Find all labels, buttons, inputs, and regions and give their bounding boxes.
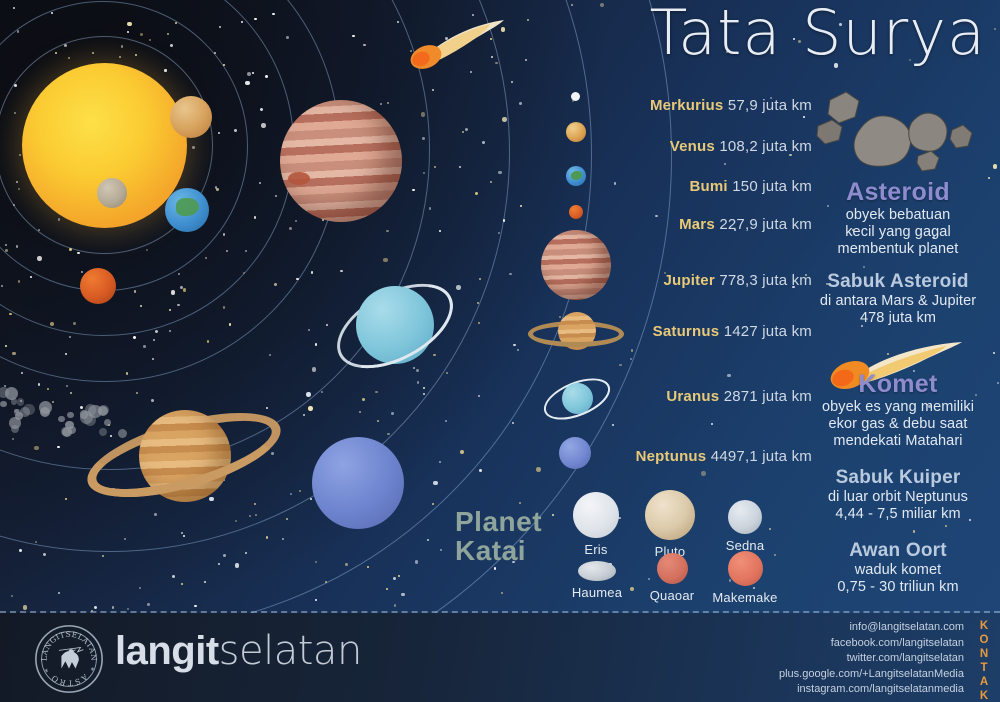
brand-bold: langit: [115, 629, 219, 673]
planet-row-uranus: Uranus 2871 juta km: [666, 389, 812, 405]
asteroid-belt-heading: Sabuk Asteroid: [800, 271, 996, 293]
planet-distance: 4497,1 juta km: [711, 448, 812, 465]
planet-row-saturnus: Saturnus 1427 juta km: [653, 324, 812, 340]
planet-name: Bumi: [689, 178, 727, 195]
planet-name: Venus: [670, 138, 715, 155]
orbit-planet-venus: [170, 96, 212, 138]
dwarf-planet-makemake: Makemake: [709, 551, 781, 605]
orbit-planet-mercury: [97, 178, 127, 208]
belt-rock: [17, 398, 24, 405]
oort-cloud-desc: waduk komet 0,75 - 30 triliun km: [800, 562, 996, 596]
comet-heading: Komet: [800, 370, 996, 399]
contact-email[interactable]: info@langitselatan.com: [714, 620, 964, 636]
belt-rock: [62, 427, 73, 438]
kuiper-belt-desc-line2: 4,44 - 7,5 miliar km: [800, 506, 996, 523]
comet-desc-line1: obyek es yang memiliki: [800, 399, 996, 416]
dwarf-planets-heading: Planet Katai: [455, 508, 565, 565]
asteroid-belt-desc: di antara Mars & Jupiter 478 juta km: [800, 293, 996, 327]
kuiper-belt-desc: di luar orbit Neptunus 4,44 - 7,5 miliar…: [800, 489, 996, 523]
haumea-body: [578, 561, 616, 581]
orbit-planet-saturn-group: [84, 378, 284, 538]
planet-row-jupiter: Jupiter 778,3 juta km: [663, 273, 812, 289]
planet-distance: 778,3 juta km: [719, 272, 812, 289]
planet-distance: 1427 juta km: [724, 323, 812, 340]
kontak-vertical-label: KONTAK: [974, 619, 994, 702]
belt-rock: [67, 412, 74, 419]
asteroid-cluster-graphic: [810, 86, 986, 172]
belt-rock: [23, 404, 34, 415]
orbit-planet-jupiter: [280, 100, 402, 222]
oort-cloud-desc-line2: 0,75 - 30 triliun km: [800, 579, 996, 596]
kontak-letter: T: [974, 661, 994, 675]
planet-row-venus: Venus 108,2 juta km: [670, 139, 812, 155]
asteroid-desc-line1: obyek bebatuan: [800, 207, 996, 224]
dwarf-planet-quaoar: Quaoar: [636, 553, 708, 603]
belt-rock: [15, 412, 23, 420]
kontak-letter: K: [974, 689, 994, 702]
asteroid-desc-line3: membentuk planet: [800, 241, 996, 258]
belt-rock: [58, 416, 65, 423]
comet-desc: obyek es yang memiliki ekor gas & debu s…: [800, 399, 996, 450]
planet-row-bumi: Bumi 150 juta km: [689, 179, 812, 195]
kuiper-belt-desc-line1: di luar orbit Neptunus: [800, 489, 996, 506]
contact-instagram[interactable]: instagram.com/langitselatanmedia: [714, 682, 964, 698]
orbit-planet-uranus-group: [330, 262, 460, 392]
contact-list: info@langitselatan.com facebook.com/lang…: [714, 620, 964, 698]
infographic-poster: Tata Surya Merkurius 57,9 juta km Ve: [0, 0, 1000, 702]
dwarf-label: Quaoar: [636, 588, 708, 603]
asteroid-belt-desc-line1: di antara Mars & Jupiter: [800, 293, 996, 310]
planet-distance: 108,2 juta km: [719, 138, 812, 155]
pluto-body: [645, 490, 695, 540]
oort-cloud-desc-line1: waduk komet: [800, 562, 996, 579]
eris-body: [573, 492, 619, 538]
planet-name: Jupiter: [663, 272, 714, 289]
belt-rock: [0, 401, 7, 408]
kontak-letter: A: [974, 675, 994, 689]
contact-gplus[interactable]: plus.google.com/+LangitselatanMedia: [714, 667, 964, 683]
kontak-letter: N: [974, 647, 994, 661]
dwarf-planet-haumea: Haumea: [561, 561, 633, 600]
planet-name: Uranus: [666, 388, 719, 405]
dwarf-planet-pluto: Pluto: [634, 490, 706, 559]
planet-distance: 2871 juta km: [724, 388, 812, 405]
planet-name: Mars: [679, 216, 715, 233]
belt-rock: [39, 401, 53, 415]
dwarf-heading-line1: Planet: [455, 508, 565, 537]
brand-thin: selatan: [219, 628, 362, 674]
planet-row-mars: Mars 227,9 juta km: [679, 217, 812, 233]
dwarf-label: Haumea: [561, 585, 633, 600]
asteroid-belt-desc-line2: 478 juta km: [800, 310, 996, 327]
dwarf-heading-line2: Katai: [455, 537, 565, 566]
makemake-body: [728, 551, 763, 586]
kuiper-belt-heading: Sabuk Kuiper: [800, 467, 996, 489]
asteroid-heading: Asteroid: [800, 178, 996, 207]
dwarf-label: Eris: [560, 542, 632, 557]
planet-name: Merkurius: [650, 97, 724, 114]
page-title: Tata Surya: [566, 0, 986, 69]
comet-desc-line3: mendekati Matahari: [800, 433, 996, 450]
asteroid-desc-line2: kecil yang gagal: [800, 224, 996, 241]
planet-name: Saturnus: [653, 323, 720, 340]
planet-distance: 227,9 juta km: [719, 216, 812, 233]
sedna-body: [728, 500, 762, 534]
comet-desc-line2: ekor gas & debu saat: [800, 416, 996, 433]
footer-divider: [0, 611, 1000, 613]
comet-graphic-top: [404, 14, 514, 72]
oort-cloud-heading: Awan Oort: [800, 540, 996, 562]
orbit-planet-neptune: [312, 437, 404, 529]
dwarf-label: Makemake: [709, 590, 781, 605]
planet-row-neptunus: Neptunus 4497,1 juta km: [636, 449, 812, 465]
dwarf-planet-eris: Eris: [560, 492, 632, 557]
langitselatan-logo-icon: LANGITSELATAN * ASTRO *: [33, 623, 105, 695]
kontak-letter: K: [974, 619, 994, 633]
kontak-letter: O: [974, 633, 994, 647]
right-info-column: Asteroid obyek bebatuan kecil yang gagal…: [800, 86, 996, 596]
quaoar-body: [657, 553, 688, 584]
planet-distance-list: Merkurius 57,9 juta km Venus 108,2 juta …: [520, 86, 820, 486]
planet-name: Neptunus: [636, 448, 707, 465]
planet-row-merkurius: Merkurius 57,9 juta km: [650, 98, 812, 114]
asteroid-desc: obyek bebatuan kecil yang gagal membentu…: [800, 207, 996, 258]
dwarf-planet-sedna: Sedna: [709, 500, 781, 553]
uranus-ring-front: [323, 266, 466, 385]
brand-wordmark: langitselatan: [115, 631, 362, 671]
contact-facebook[interactable]: facebook.com/langitselatan: [714, 636, 964, 652]
orbit-planet-jupiter-spot: [288, 172, 310, 185]
orbit-planet-mars: [80, 268, 116, 304]
contact-twitter[interactable]: twitter.com/langitselatan: [714, 651, 964, 667]
